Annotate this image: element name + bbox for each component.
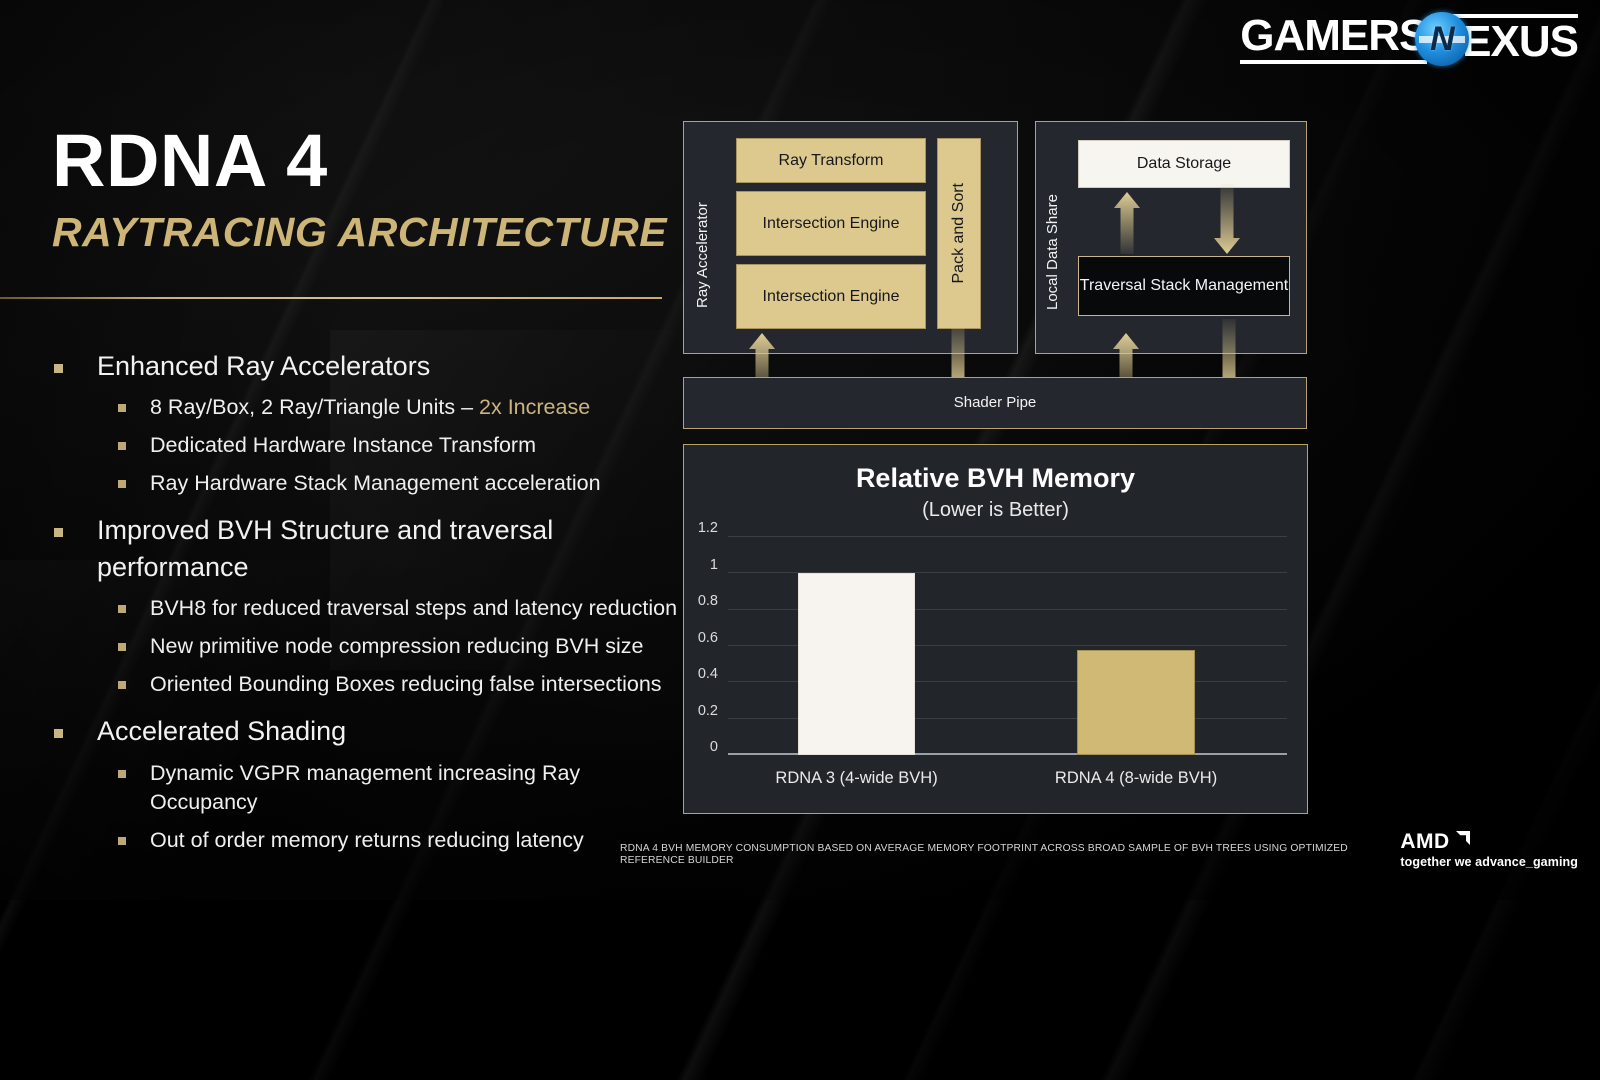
bullet-marker-icon bbox=[54, 528, 63, 537]
bullet-marker-icon bbox=[118, 480, 126, 488]
raytracing-block-diagram: Ray Accelerator Ray Transform Intersecti… bbox=[683, 121, 1308, 429]
bullet-marker-icon bbox=[118, 681, 126, 689]
ray-transform-block: Ray Transform bbox=[736, 138, 926, 183]
bullet-item-l1: Enhanced Ray Accelerators bbox=[46, 348, 686, 384]
chart-subtitle: (Lower is Better) bbox=[684, 499, 1307, 522]
bullet-item-l2: New primitive node compression reducing … bbox=[46, 632, 686, 661]
chart-y-tick-label: 0.6 bbox=[698, 630, 718, 646]
amd-logo: AMD together we advance_gaming bbox=[1400, 830, 1578, 869]
bullet-marker-icon bbox=[118, 770, 126, 778]
chart-y-tick-label: 0.4 bbox=[698, 666, 718, 682]
bullet-item-l2: BVH8 for reduced traversal steps and lat… bbox=[46, 594, 686, 623]
bullet-marker-icon bbox=[118, 643, 126, 651]
bullet-highlight-text: 2x Increase bbox=[479, 395, 590, 419]
bullet-text: Out of order memory returns reducing lat… bbox=[150, 826, 584, 855]
title-divider bbox=[0, 297, 662, 299]
amd-wordmark: AMD bbox=[1400, 830, 1578, 854]
chart-x-tick-label: RDNA 4 (8-wide BVH) bbox=[1055, 769, 1217, 788]
relative-bvh-memory-chart: Relative BVH Memory (Lower is Better) 00… bbox=[683, 444, 1308, 814]
bullet-item-l2: Oriented Bounding Boxes reducing false i… bbox=[46, 670, 686, 699]
bullet-text: BVH8 for reduced traversal steps and lat… bbox=[150, 594, 677, 623]
chart-bar bbox=[798, 573, 915, 755]
bullet-item-l2: Dedicated Hardware Instance Transform bbox=[46, 431, 686, 460]
bullet-marker-icon bbox=[118, 837, 126, 845]
bullet-item-l1: Improved BVH Structure and traversal per… bbox=[46, 512, 686, 585]
chart-plot-area: 00.20.40.60.811.2RDNA 3 (4-wide BVH)RDNA… bbox=[728, 537, 1287, 755]
bullet-text: Enhanced Ray Accelerators bbox=[97, 348, 430, 384]
chart-gridline: 1.2 bbox=[728, 536, 1287, 537]
chart-y-tick-label: 0.8 bbox=[698, 593, 718, 609]
bullet-marker-icon bbox=[54, 364, 63, 373]
bullet-text: Improved BVH Structure and traversal per… bbox=[97, 512, 686, 585]
shader-pipe-label: Shader Pipe bbox=[684, 394, 1306, 411]
bullet-marker-icon bbox=[118, 442, 126, 450]
bullet-item-l2: Out of order memory returns reducing lat… bbox=[46, 826, 686, 855]
pack-and-sort-block: Pack and Sort bbox=[937, 138, 981, 329]
feature-bullet-list: Enhanced Ray Accelerators8 Ray/Box, 2 Ra… bbox=[46, 334, 686, 855]
chart-y-tick-label: 1 bbox=[710, 557, 718, 573]
amd-wordmark-text: AMD bbox=[1400, 830, 1449, 854]
bullet-item-l2: Dynamic VGPR management increasing Ray O… bbox=[46, 759, 686, 817]
chart-y-tick-label: 0.2 bbox=[698, 703, 718, 719]
chart-bar bbox=[1077, 650, 1194, 755]
page-subtitle: RAYTRACING ARCHITECTURE bbox=[52, 212, 667, 253]
arrow-up-storage-to-stack-icon bbox=[1114, 192, 1140, 254]
data-storage-block: Data Storage bbox=[1078, 140, 1290, 188]
gamers-nexus-logo: GAMERS N NEXUS bbox=[1240, 8, 1578, 70]
amd-tagline: together we advance_gaming bbox=[1400, 855, 1578, 869]
pack-and-sort-label: Pack and Sort bbox=[950, 183, 968, 284]
bullet-marker-icon bbox=[118, 605, 126, 613]
amd-arrow-icon bbox=[1453, 830, 1470, 854]
gn-logo-badge-mark: N bbox=[1430, 22, 1455, 56]
bullet-item-l2: Ray Hardware Stack Management accelerati… bbox=[46, 469, 686, 498]
bullet-marker-icon bbox=[54, 729, 63, 738]
intersection-engine-block-1: Intersection Engine bbox=[736, 191, 926, 256]
bullet-text: Dynamic VGPR management increasing Ray O… bbox=[150, 759, 686, 817]
bullet-text: 8 Ray/Box, 2 Ray/Triangle Units – 2x Inc… bbox=[150, 393, 590, 422]
gn-logo-left-text: GAMERS bbox=[1240, 14, 1427, 64]
chart-y-tick-label: 1.2 bbox=[698, 520, 718, 536]
chart-footnote: RDNA 4 BVH MEMORY CONSUMPTION BASED ON A… bbox=[620, 843, 1360, 868]
local-data-share-panel: Local Data Share Data Storage Traversal … bbox=[1035, 121, 1307, 354]
chart-title: Relative BVH Memory bbox=[684, 463, 1307, 494]
bullet-text: Oriented Bounding Boxes reducing false i… bbox=[150, 670, 662, 699]
shader-pipe-panel: Shader Pipe bbox=[683, 377, 1307, 429]
bullet-marker-icon bbox=[118, 404, 126, 412]
chart-x-tick-label: RDNA 3 (4-wide BVH) bbox=[775, 769, 937, 788]
traversal-stack-management-block: Traversal Stack Management bbox=[1078, 256, 1290, 316]
page-title: RDNA 4 bbox=[52, 124, 328, 198]
bullet-text: Dedicated Hardware Instance Transform bbox=[150, 431, 536, 460]
local-data-share-label: Local Data Share bbox=[1044, 160, 1061, 310]
chart-y-tick-label: 0 bbox=[710, 739, 718, 755]
intersection-engine-block-2: Intersection Engine bbox=[736, 264, 926, 329]
arrow-down-storage-to-stack-icon bbox=[1214, 184, 1240, 254]
ray-accelerator-label: Ray Accelerator bbox=[694, 168, 711, 308]
bullet-text: Ray Hardware Stack Management accelerati… bbox=[150, 469, 601, 498]
bullet-item-l2: 8 Ray/Box, 2 Ray/Triangle Units – 2x Inc… bbox=[46, 393, 686, 422]
bullet-item-l1: Accelerated Shading bbox=[46, 713, 686, 749]
bullet-text: Accelerated Shading bbox=[97, 713, 346, 749]
bullet-text: New primitive node compression reducing … bbox=[150, 632, 644, 661]
